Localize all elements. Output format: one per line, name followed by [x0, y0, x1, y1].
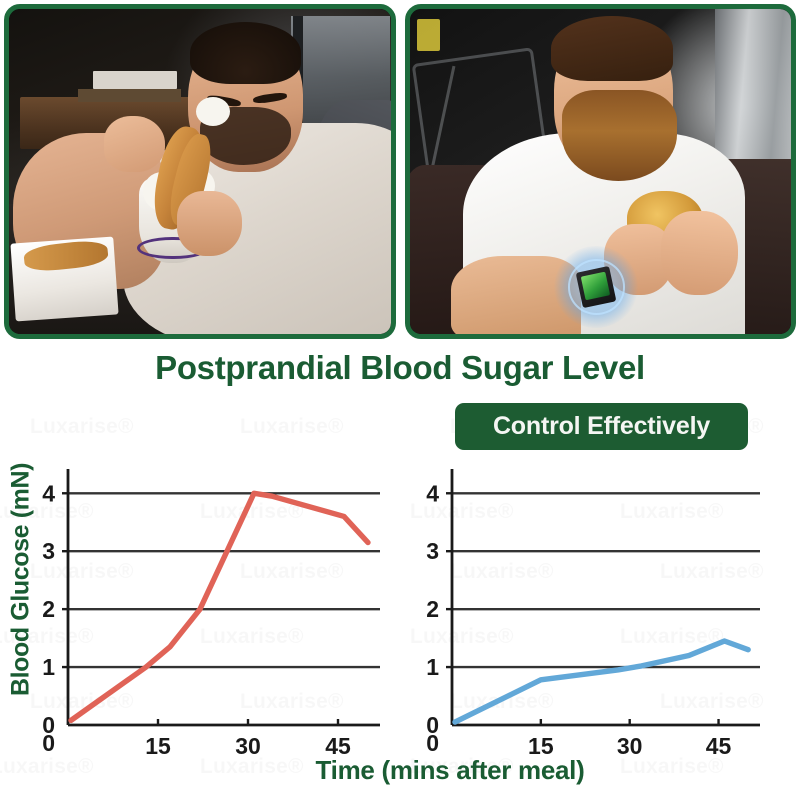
y-tick-label: 1 — [426, 654, 439, 680]
charts-container: Blood Glucose (mN) 012341530450 01234153… — [0, 455, 800, 800]
photo-left-frame — [4, 4, 396, 339]
y-tick-label: 4 — [426, 480, 439, 506]
photo-right-frame — [405, 4, 797, 339]
control-effectively-badge: Control Effectively — [455, 403, 748, 450]
x-axis-title: Time (mins after meal) — [0, 755, 800, 786]
chart-after: 012341530450 — [400, 455, 800, 755]
y-tick-label: 1 — [42, 654, 55, 680]
origin-label: 0 — [426, 730, 439, 755]
x-tick-label: 45 — [325, 733, 351, 755]
origin-label: 0 — [42, 730, 55, 755]
photo-row — [0, 0, 800, 343]
badge-label: Control Effectively — [493, 412, 710, 441]
man-eating-dessert-photo — [9, 9, 391, 334]
y-tick-label: 4 — [42, 480, 55, 506]
chart-before: 012341530450 — [0, 455, 400, 755]
y-tick-label: 2 — [426, 596, 439, 622]
x-tick-label: 45 — [706, 733, 732, 755]
series-line — [71, 493, 368, 720]
poster-root: Luxarise®Luxarise®Luxarise®Luxarise®Luxa… — [0, 0, 800, 800]
x-tick-label: 15 — [528, 733, 554, 755]
y-tick-label: 3 — [42, 538, 55, 564]
x-tick-label: 15 — [145, 733, 171, 755]
y-tick-label: 3 — [426, 538, 439, 564]
x-tick-label: 30 — [617, 733, 643, 755]
y-tick-label: 2 — [42, 596, 55, 622]
page-title: Postprandial Blood Sugar Level — [0, 349, 800, 387]
watermark-text: Luxarise® — [240, 415, 344, 439]
series-line — [455, 641, 748, 722]
x-tick-label: 30 — [235, 733, 261, 755]
watermark-text: Luxarise® — [30, 415, 134, 439]
bearded-man-eating-burger-photo — [410, 9, 792, 334]
